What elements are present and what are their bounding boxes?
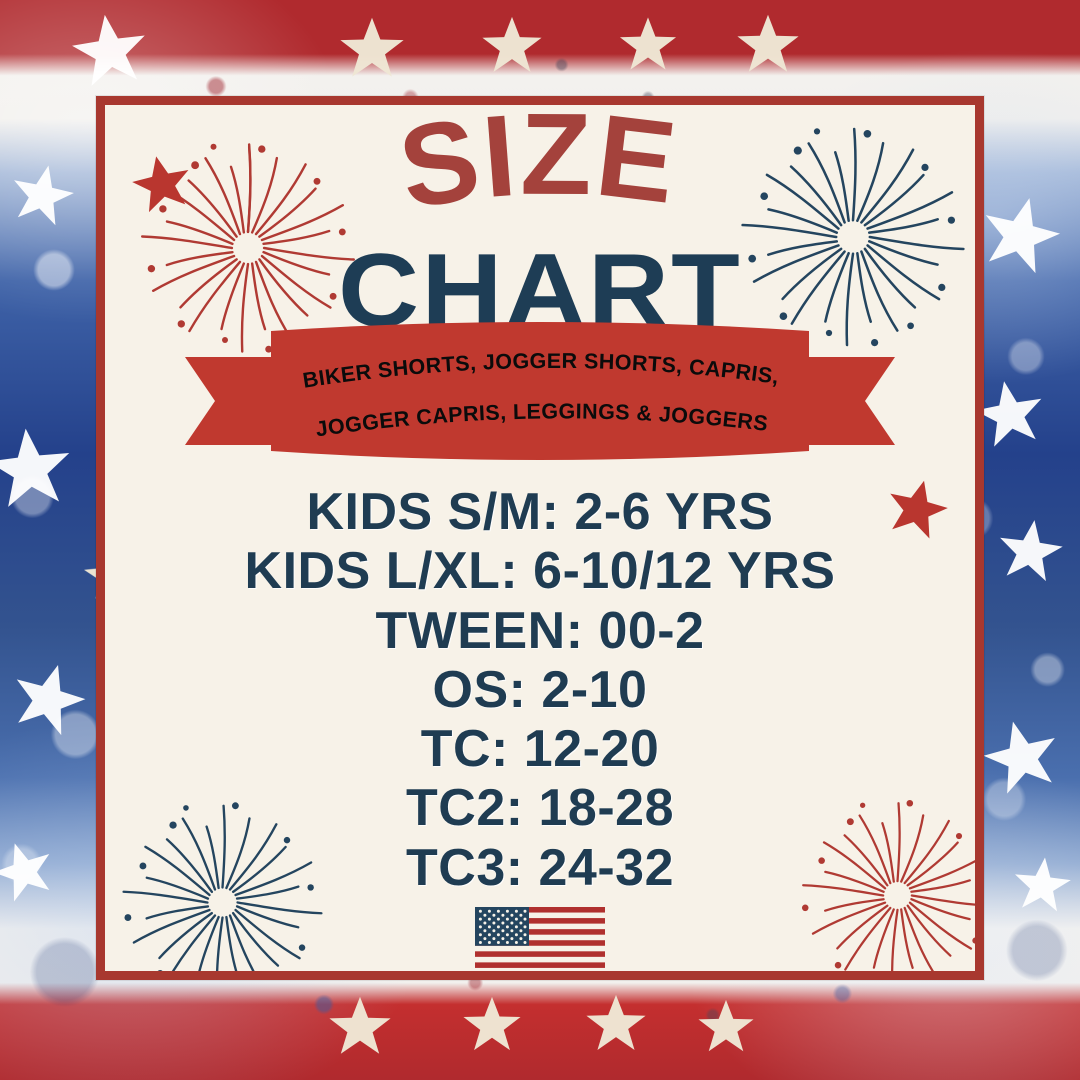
usa-flag-icon bbox=[475, 907, 605, 971]
size-row: OS: 2-10 bbox=[105, 661, 975, 720]
size-list: KIDS S/M: 2-6 YRS KIDS L/XL: 6-10/12 YRS… bbox=[105, 483, 975, 898]
size-row: KIDS S/M: 2-6 YRS bbox=[105, 483, 975, 542]
chart-card: SIZE CHART bbox=[96, 96, 984, 980]
title-size: SIZE bbox=[391, 105, 685, 233]
size-row: TC3: 24-32 bbox=[105, 839, 975, 898]
size-row: TC2: 18-28 bbox=[105, 779, 975, 838]
size-row: TC: 12-20 bbox=[105, 720, 975, 779]
ribbon-right-tail bbox=[809, 357, 895, 445]
title-size-wrap: SIZE bbox=[105, 131, 975, 249]
size-chart-poster: SIZE CHART bbox=[0, 0, 1080, 1080]
ribbon-band bbox=[271, 322, 809, 460]
size-row: KIDS L/XL: 6-10/12 YRS bbox=[105, 542, 975, 601]
ribbon-left-tail bbox=[185, 357, 271, 445]
size-row: TWEEN: 00-2 bbox=[105, 602, 975, 661]
poster-title: SIZE CHART bbox=[105, 131, 975, 343]
subtitle-ribbon: BIKER SHORTS, JOGGER SHORTS, CAPRIS, JOG… bbox=[185, 327, 895, 469]
chart-card-inner: SIZE CHART bbox=[105, 105, 975, 971]
